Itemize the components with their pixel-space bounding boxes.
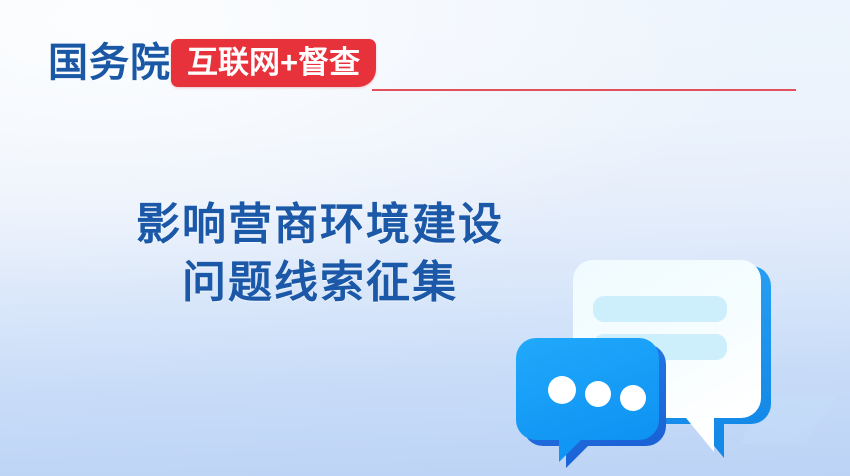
- bubble-dot: [620, 385, 646, 411]
- promo-banner: 国务院 互联网+督查 影响营商环境建设 问题线索征集: [0, 0, 850, 476]
- bubble-text-bar: [593, 296, 727, 322]
- bubble-dot: [548, 376, 576, 404]
- program-tag-badge: 互联网+督查: [171, 39, 376, 87]
- bubble-dot: [585, 381, 611, 407]
- organization-name: 国务院: [48, 36, 171, 90]
- header-divider-line: [372, 89, 796, 91]
- program-tag-label: 互联网+督查: [187, 46, 360, 80]
- banner-header: 国务院 互联网+督查: [0, 36, 850, 94]
- speech-bubbles-illustration: [505, 238, 850, 476]
- small-speech-bubble: [516, 338, 666, 468]
